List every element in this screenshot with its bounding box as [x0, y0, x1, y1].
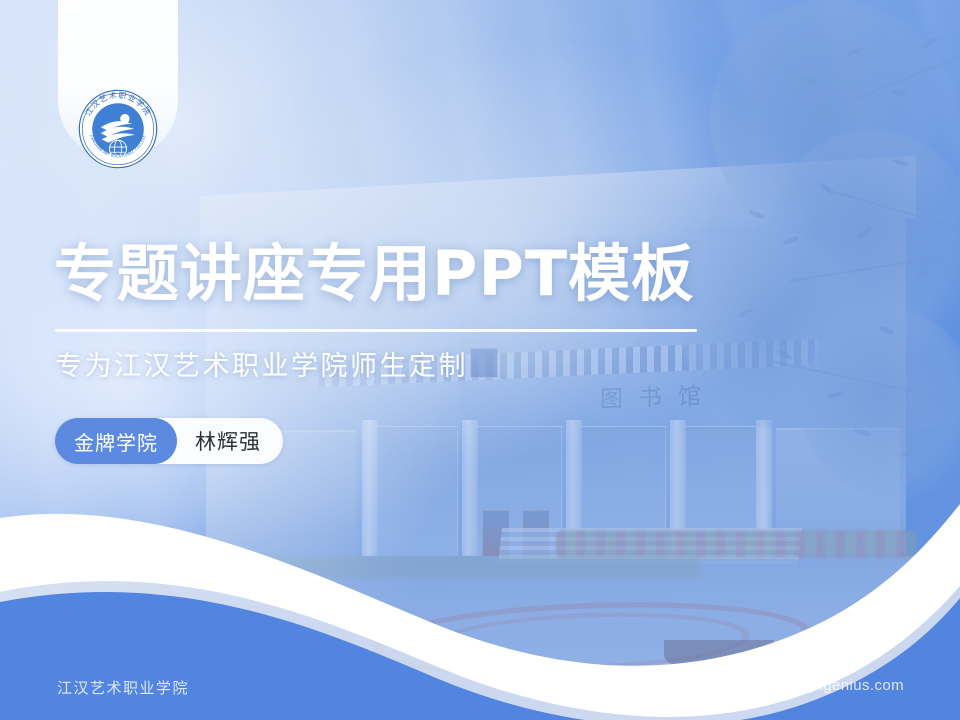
credential-badge[interactable]: 金牌学院 林辉强: [55, 418, 283, 464]
badge-tag-label: 金牌学院: [55, 418, 177, 464]
logo-tab-panel: 江汉艺术职业学院 JIANGHAN ART VOCATIONAL COLLEGE: [58, 0, 178, 160]
page-subtitle: 专为江汉艺术职业学院师生定制: [55, 350, 468, 384]
badge-author-name: 林辉强: [177, 426, 283, 456]
footer-website-url[interactable]: www.pptgenius.com: [764, 677, 904, 694]
title-divider: [55, 329, 697, 332]
page-title: 专题讲座专用PPT模板: [54, 243, 694, 305]
footer-school-name: 江汉艺术职业学院: [57, 677, 189, 698]
ppt-slide-cover: 图书馆: [0, 0, 960, 720]
school-seal-logo-icon: 江汉艺术职业学院 JIANGHAN ART VOCATIONAL COLLEGE: [75, 86, 161, 172]
